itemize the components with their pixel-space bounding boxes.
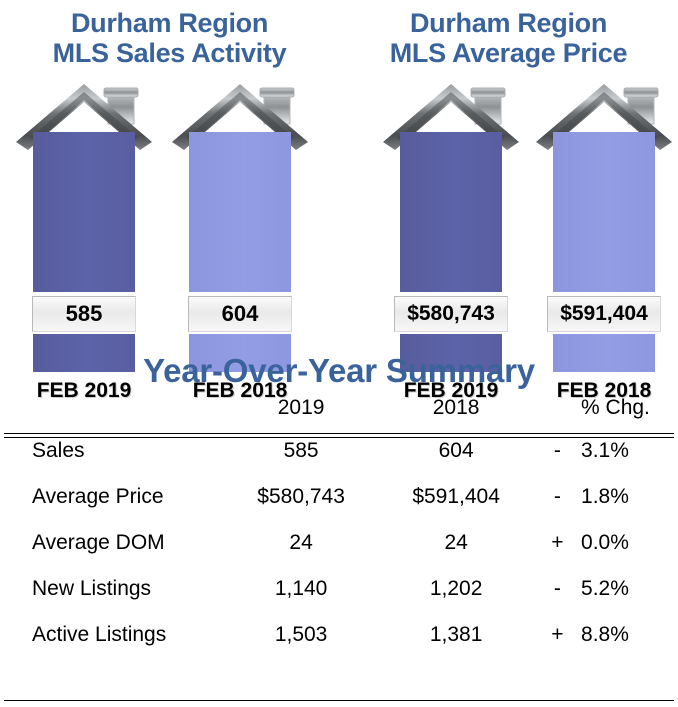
table-header-row: 2019 2018 % Chg. [8,396,670,428]
house-body [400,132,502,372]
value-label-box: $591,404 [543,292,665,334]
cell-2018: 1,202 [379,566,534,612]
cell-chg: 1.8% [581,474,670,520]
value-label: $580,743 [394,296,508,332]
column-header-2018: 2018 [379,396,534,428]
cell-sign: + [534,520,581,566]
cell-metric: New Listings [8,566,224,612]
value-label: $591,404 [547,296,661,332]
cell-2019: 585 [224,428,379,474]
value-label: 585 [32,296,136,332]
cell-2019: 1,503 [224,612,379,658]
cell-2018: 604 [379,428,534,474]
column-header-sign [534,396,581,428]
table-row: Active Listings 1,503 1,381 + 8.8% [8,612,670,658]
column-header-metric [8,396,224,428]
sales-chart-title-line2: MLS Sales Activity [0,38,339,68]
table-row: Average Price $580,743 $591,404 - 1.8% [8,474,670,520]
price-chart-title: Durham Region MLS Average Price [339,8,678,68]
cell-2019: 24 [224,520,379,566]
table-body: Sales 585 604 - 3.1% Average Price $580,… [8,428,670,658]
infographic-page: Durham Region MLS Sales Activity Durham … [0,0,678,707]
cell-chg: 8.8% [581,612,670,658]
cell-metric: Active Listings [8,612,224,658]
column-header-2019: 2019 [224,396,379,428]
house-body [189,132,291,372]
sales-chart-title-line1: Durham Region [0,8,339,38]
cell-metric: Average Price [8,474,224,520]
cell-chg: 0.0% [581,520,670,566]
cell-2018: 1,381 [379,612,534,658]
cell-2018: $591,404 [379,474,534,520]
table-row: New Listings 1,140 1,202 - 5.2% [8,566,670,612]
value-label-box: $580,743 [390,292,512,334]
table-header: 2019 2018 % Chg. [8,396,670,428]
value-label-box: 604 [184,292,296,334]
cell-2019: 1,140 [224,566,379,612]
cell-chg: 3.1% [581,428,670,474]
value-label: 604 [188,296,292,332]
cell-sign: - [534,474,581,520]
cell-metric: Average DOM [8,520,224,566]
house-body [33,132,135,372]
cell-metric: Sales [8,428,224,474]
cell-2018: 24 [379,520,534,566]
table-bottom-rule [4,700,674,701]
cell-sign: - [534,428,581,474]
year-over-year-table: 2019 2018 % Chg. Sales 585 604 - 3.1% Av… [8,396,670,658]
table-top-rule-second [4,437,674,438]
cell-2019: $580,743 [224,474,379,520]
column-header-chg: % Chg. [581,396,670,428]
price-chart-title-line1: Durham Region [339,8,678,38]
sales-chart-title: Durham Region MLS Sales Activity [0,8,339,68]
table-row: Average DOM 24 24 + 0.0% [8,520,670,566]
cell-sign: - [534,566,581,612]
price-chart-title-line2: MLS Average Price [339,38,678,68]
summary-title: Year-Over-Year Summary [0,352,678,390]
value-label-box: 585 [28,292,140,334]
cell-chg: 5.2% [581,566,670,612]
table-top-rule [4,433,674,434]
cell-sign: + [534,612,581,658]
house-body [553,132,655,372]
table-row: Sales 585 604 - 3.1% [8,428,670,474]
